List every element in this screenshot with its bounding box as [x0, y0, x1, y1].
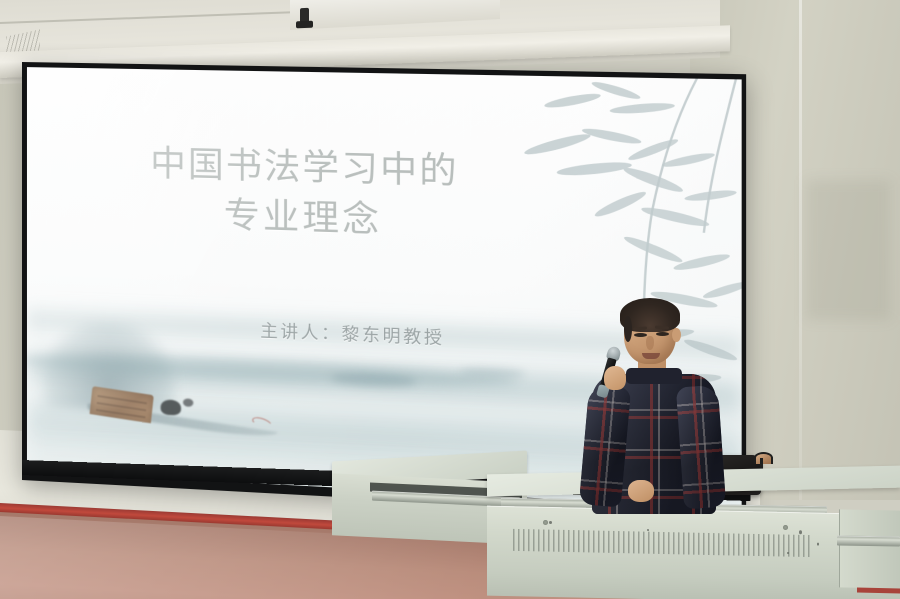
presenter-eye-right [656, 332, 669, 336]
presenter-eye-left [634, 333, 647, 337]
presenter-right-arm [676, 385, 726, 510]
presenter-hair [620, 298, 680, 332]
boat-cabin [89, 386, 153, 423]
podium-side-panel [839, 509, 900, 588]
presenter-nose [646, 336, 654, 350]
shirt-collar [626, 368, 682, 384]
slide-title: 中国书法学习中的 专业理念 [74, 137, 540, 252]
boat-figure [160, 399, 181, 415]
podium-speck [799, 530, 802, 534]
podium-screw [543, 520, 548, 525]
presenter [576, 302, 726, 512]
podium-speck [817, 543, 819, 546]
wall-smudge [806, 180, 890, 320]
podium-speck [549, 521, 552, 524]
podium-rail-3 [837, 535, 900, 546]
boat-figure-small [183, 398, 193, 406]
lecture-photo-scene: 中国书法学习中的 专业理念 主讲人：黎东明教授 [0, 0, 900, 599]
podium-screw [783, 525, 788, 530]
podium-red-edge [857, 588, 900, 594]
presenter-lower-hand [628, 480, 654, 502]
arm-shading [676, 385, 726, 510]
presenter-hand-holding-mic [604, 366, 626, 390]
mic-clip-head [754, 452, 773, 464]
ceiling-mount-bracket [300, 8, 309, 25]
presenter-ear [672, 328, 681, 342]
